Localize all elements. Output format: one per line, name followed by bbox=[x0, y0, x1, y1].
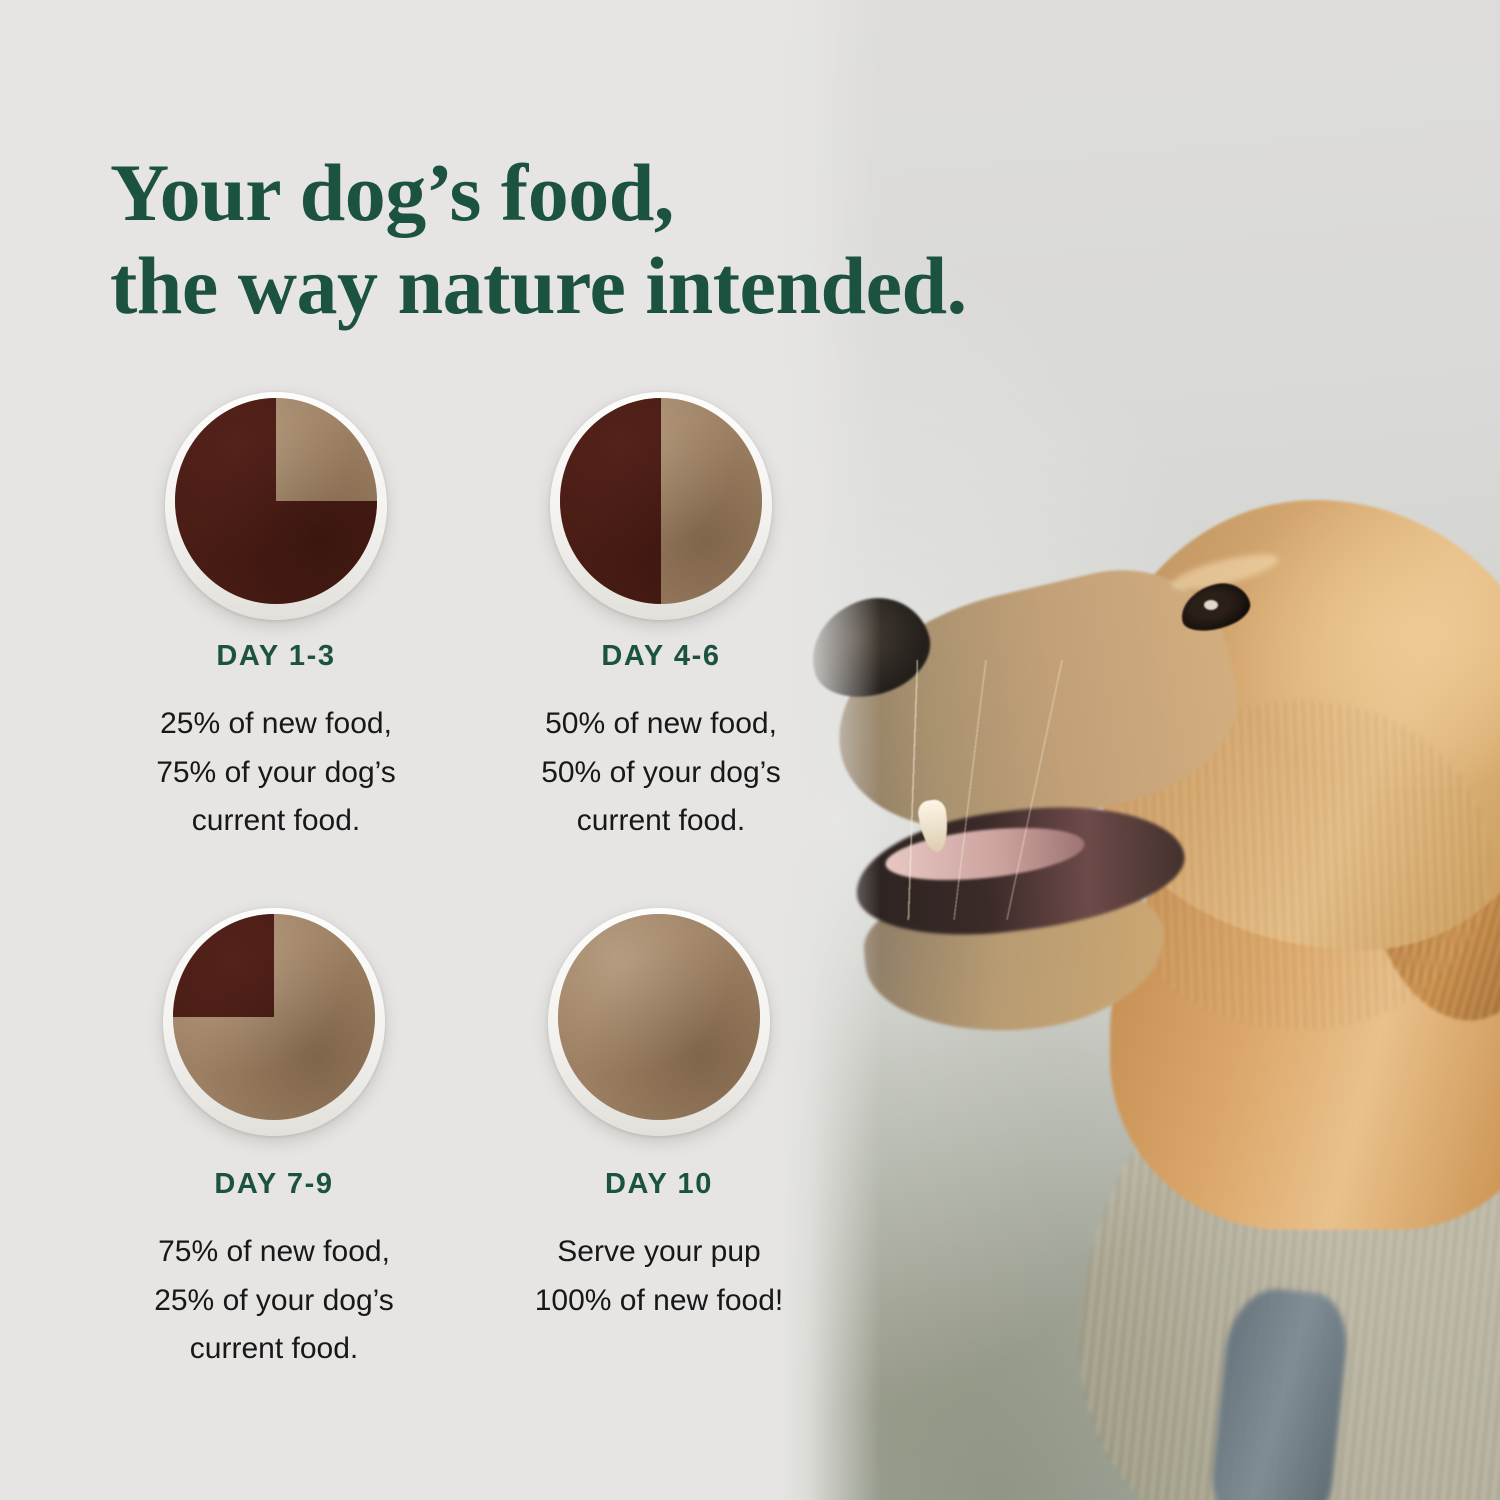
infographic-root: Your dog’s food, the way nature intended… bbox=[0, 0, 1500, 1500]
page-title-line-1: Your dog’s food, bbox=[110, 146, 1110, 239]
day-description-7-9: 75% of new food, 25% of your dog’s curre… bbox=[104, 1228, 444, 1374]
day-label-4-6: DAY 4-6 bbox=[550, 640, 772, 673]
new-food-kibble-day-10 bbox=[558, 914, 760, 1120]
bowl-day-10 bbox=[548, 908, 770, 1136]
bowl-day-7-9 bbox=[163, 908, 385, 1136]
step-card-day-7-9 bbox=[163, 908, 385, 1136]
day-label-10: DAY 10 bbox=[548, 1168, 770, 1201]
bowl-inner-day-10 bbox=[558, 914, 760, 1120]
day-description-1-3: 25% of new food, 75% of your dog’s curre… bbox=[106, 700, 446, 846]
step-card-day-1-3 bbox=[165, 392, 387, 620]
bowl-inner-day-1-3 bbox=[175, 398, 377, 604]
page-title: Your dog’s food, the way nature intended… bbox=[110, 146, 1110, 333]
day-label-7-9: DAY 7-9 bbox=[163, 1168, 385, 1201]
step-card-day-10 bbox=[548, 908, 770, 1136]
day-description-4-6: 50% of new food, 50% of your dog’s curre… bbox=[491, 700, 831, 846]
bowl-day-1-3 bbox=[165, 392, 387, 620]
day-description-10: Serve your pup 100% of new food! bbox=[489, 1228, 829, 1325]
bowl-day-4-6 bbox=[550, 392, 772, 620]
step-card-day-4-6 bbox=[550, 392, 772, 620]
bowl-inner-day-4-6 bbox=[560, 398, 762, 604]
page-title-line-2: the way nature intended. bbox=[110, 239, 1110, 332]
bowl-inner-day-7-9 bbox=[173, 914, 375, 1120]
day-label-1-3: DAY 1-3 bbox=[165, 640, 387, 673]
